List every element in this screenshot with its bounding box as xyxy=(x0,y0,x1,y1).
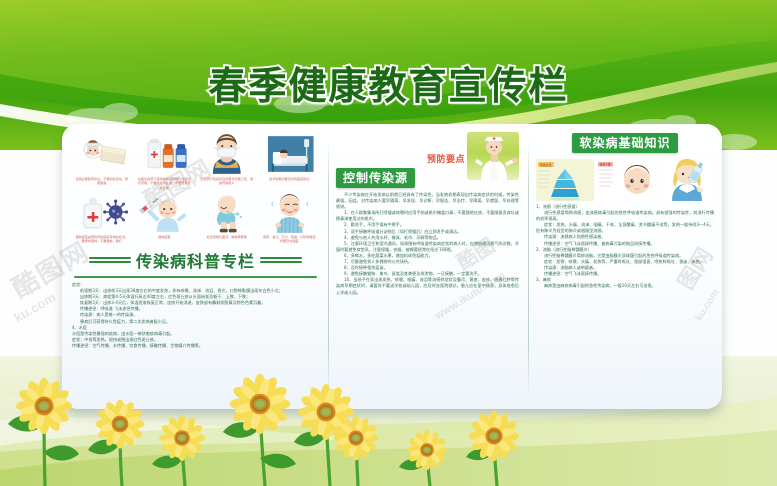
middle-eyebrow-label: 预防要点 xyxy=(427,152,465,165)
illustration-caption: 症状较重的要及时到医院就诊 xyxy=(260,177,320,181)
poster-canvas: 春季健康教育宣传栏 春季健康教育宣传栏 xyxy=(0,0,777,486)
illustration-child-getting-vaccinated: 接种疫苗 xyxy=(135,192,195,244)
illustration-caption: 在医生指导下服用抗病毒药物及对症治疗药物，不要滥用抗生素，不要随意增减药量 xyxy=(135,177,195,190)
boy-face-symptoms-card: 易感人群 xyxy=(597,159,659,201)
right-banner-row: 软染病基础知识 xyxy=(536,132,714,153)
illustration-caption: 如出现呕吐腹泻、精神萎靡等 xyxy=(197,235,257,239)
middle-panel-body: 不少传染病在开始发病以前就已经具有了传染性。当发病初期表现出传染病症状的时候，传… xyxy=(336,192,519,296)
pyramid-label: 传播途径 xyxy=(540,162,552,167)
middle-body-line: 5、注意环境卫生和室内通风，如周围有呼吸道传染病症状的病人时，应增加通风换气的次… xyxy=(336,241,519,253)
illustration-caption: 出现流行性感冒症状要及时戴口罩，避免传染他人 xyxy=(197,177,257,186)
hospital-patient-bed-icon xyxy=(260,134,320,176)
left-panel-body: 症状： 前驱期3天：出疹前3天出现38度左右的中度发热，伴有咳嗽、流涕、流泪、畏… xyxy=(72,282,319,349)
column-divider-2 xyxy=(528,138,529,396)
right-column: 软染病基础知识 传播途径 xyxy=(530,124,722,409)
child-with-chills-icon xyxy=(260,192,320,234)
illustration-sick-person-in-bed: 患病后要卧床休息，不要到处走动，按照医嘱 xyxy=(72,134,132,190)
page-title-fill: 春季健康教育宣传栏 xyxy=(208,55,568,110)
child-getting-vaccinated-icon xyxy=(135,192,195,234)
child-vomiting-icon xyxy=(197,192,257,234)
illustration-caption: 接种疫苗是预防传染病最有效的办法，要按时接种，不要漏种、漏打 xyxy=(72,235,132,244)
content-board: 患病后要卧床休息，不要到处走动，按照医嘱 xyxy=(62,124,722,409)
left-panel-rule xyxy=(74,276,317,278)
illustration-caption: 患病后要卧床休息，不要到处走动，按照医嘱 xyxy=(72,177,132,186)
illustration-caption: 畏寒、发冷、乏力、咳嗽、打喷嚏等症状要及时就医 xyxy=(260,235,320,244)
left-panel-heading-text: 传染病科普专栏 xyxy=(136,248,255,272)
middle-banner-row: 控制传染源 xyxy=(336,167,415,188)
illustration-hospital-patient-bed: 症状较重的要及时到医院就诊 xyxy=(260,134,320,190)
illustration-child-vomiting: 如出现呕吐腹泻、精神萎靡等 xyxy=(197,192,257,244)
middle-body-line: 10、当孩子在家出现发热、咳嗽、咽痛、流泪等流感样症状及腹泻、黄疸、皮疹、结膜红… xyxy=(336,277,519,295)
boy-card-label: 易感人群 xyxy=(600,163,611,167)
left-panel-heading: 传染病科普专栏 xyxy=(72,248,319,272)
nurse-illustration xyxy=(467,132,519,180)
heading-rule-left xyxy=(89,257,131,263)
heading-rule-right xyxy=(260,257,302,263)
medicine-bottles-icon xyxy=(135,134,195,176)
illustration-vaccine-and-virus: 接种疫苗是预防传染病最有效的办法，要按时接种，不要漏种、漏打 xyxy=(72,192,132,244)
column-divider-1 xyxy=(328,138,329,396)
sick-person-in-bed-icon xyxy=(72,134,132,176)
right-body-line: 症状：发热、头痛、流涕、咽痛、干咳、全身酸痛、关节酸痛不适等，发热一般持续3—4… xyxy=(536,222,714,234)
middle-column: 预防要点 控制传染源 不少传染病在开始发病以前就已经具有了传染性。当发病初期表现… xyxy=(330,124,525,409)
right-body-line: 流行性感冒简称流感，由流感病毒引起的急性呼吸道传染病。具有很强的传染性，其流行传… xyxy=(536,210,714,222)
middle-panel-banner: 控制传染源 xyxy=(336,168,415,188)
illustration-person-wearing-mask: 出现流行性感冒症状要及时戴口罩，避免传染他人 xyxy=(197,134,257,190)
right-panel-banner: 软染病基础知识 xyxy=(572,133,677,153)
vaccine-and-virus-icon xyxy=(72,192,132,234)
middle-body-line: 不少传染病在开始发病以前就已经具有了传染性。当发病初期表现出传染病症状的时候，传… xyxy=(336,192,519,210)
right-panel-body: 1、流感（流行性感冒） 流行性感冒简称流感，由流感病毒引起的急性呼吸道传染病。具… xyxy=(536,204,714,289)
left-column: 患病后要卧床休息，不要到处走动，按照医嘱 xyxy=(62,124,327,409)
illustration-medicine-bottles: 在医生指导下服用抗病毒药物及对症治疗药物，不要滥用抗生素，不要随意增减药量 xyxy=(135,134,195,190)
left-body-line: 传播途径：空气传播、水传播、饮食传播、接触传播、生物媒介传播等。 xyxy=(72,343,319,349)
illustration-grid: 患病后要卧床休息，不要到处走动，按照医嘱 xyxy=(72,134,319,243)
woman-drinking-water xyxy=(662,157,712,201)
illustration-child-with-chills: 畏寒、发冷、乏力、咳嗽、打喷嚏等症状要及时就医 xyxy=(260,192,320,244)
right-illustration-row: 传播途径 xyxy=(536,157,714,201)
right-body-line: 麻疹是由麻疹病毒引起的急性传染病，一般10天左右可治愈。 xyxy=(536,283,714,289)
middle-header-area: 预防要点 控制传染源 xyxy=(336,132,519,190)
person-wearing-mask-icon xyxy=(197,134,257,176)
pyramid-infographic: 传播途径 xyxy=(536,159,594,201)
illustration-caption: 接种疫苗 xyxy=(135,235,195,239)
middle-body-line: 1、在人群聚集场所打喷嚏或咳嗽时应用手帕或纸巾掩盖口鼻，不要随地吐痰，不要随意丢… xyxy=(336,210,519,222)
poster-title-wrap: 春季健康教育宣传栏 春季健康教育宣传栏 xyxy=(0,55,777,110)
